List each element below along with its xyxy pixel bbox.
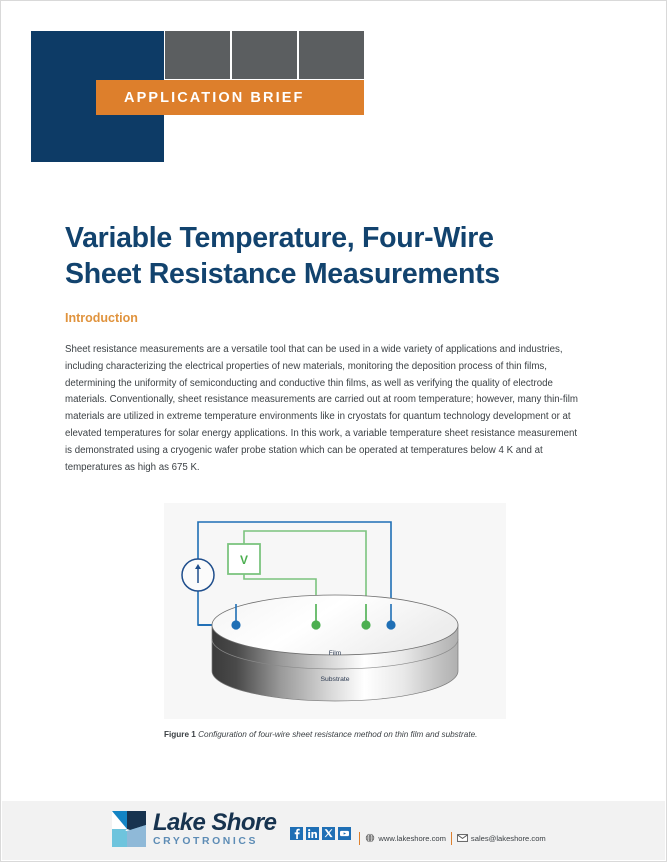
page-title-line1: Variable Temperature, Four-Wire bbox=[65, 222, 494, 254]
email-text: sales@lakeshore.com bbox=[471, 834, 546, 843]
introduction-paragraph: Sheet resistance measurements are a vers… bbox=[65, 342, 584, 477]
page-title-line2: Sheet Resistance Measurements bbox=[65, 258, 500, 290]
voltage-probe-right bbox=[361, 620, 370, 629]
x-twitter-icon[interactable] bbox=[322, 827, 335, 840]
figure-caption-text: Configuration of four-wire sheet resista… bbox=[198, 730, 477, 739]
envelope-icon bbox=[457, 834, 468, 842]
header-gray-block-3 bbox=[299, 31, 364, 79]
facebook-icon[interactable] bbox=[290, 827, 303, 840]
page-footer: Lake Shore CRYOTRONICS bbox=[2, 800, 665, 860]
substrate-label: Substrate bbox=[320, 676, 349, 683]
website-text: www.lakeshore.com bbox=[378, 834, 446, 843]
substrate-cylinder bbox=[212, 595, 458, 701]
figure-caption-label: Figure 1 bbox=[164, 730, 196, 739]
logo-company-subtitle: CRYOTRONICS bbox=[153, 837, 276, 847]
youtube-icon[interactable] bbox=[338, 827, 351, 840]
contact-divider-1 bbox=[359, 832, 360, 845]
voltmeter-label: V bbox=[240, 553, 248, 567]
application-brief-banner: APPLICATION BRIEF bbox=[96, 80, 364, 115]
four-wire-diagram: Film Substrate V bbox=[164, 503, 506, 719]
film-top-surface bbox=[212, 595, 458, 655]
film-label: Film bbox=[329, 650, 342, 657]
voltmeter-symbol: V bbox=[228, 544, 260, 574]
globe-icon bbox=[365, 833, 375, 843]
header-gray-block-1 bbox=[165, 31, 230, 79]
current-probe-left bbox=[231, 620, 240, 629]
current-probe-right bbox=[386, 620, 395, 629]
linkedin-icon[interactable] bbox=[306, 827, 319, 840]
banner-label: APPLICATION BRIEF bbox=[124, 90, 304, 106]
contact-divider-2 bbox=[451, 832, 452, 845]
page-title: Variable Temperature, Four-Wire Sheet Re… bbox=[65, 221, 605, 293]
header-gray-block-2 bbox=[232, 31, 297, 79]
document-page: APPLICATION BRIEF Variable Temperature, … bbox=[0, 0, 667, 862]
contact-info: www.lakeshore.com sales@lakeshore.com bbox=[359, 832, 545, 845]
lake-shore-logo: Lake Shore CRYOTRONICS bbox=[112, 811, 276, 847]
logo-company-name: Lake Shore bbox=[153, 811, 276, 835]
lake-shore-logo-mark bbox=[112, 811, 146, 847]
section-heading-introduction: Introduction bbox=[65, 311, 138, 325]
voltage-probe-left bbox=[311, 620, 320, 629]
social-links: www.lakeshore.com sales@lakeshore.com bbox=[290, 823, 545, 845]
website-link[interactable]: www.lakeshore.com bbox=[365, 833, 446, 843]
email-link[interactable]: sales@lakeshore.com bbox=[457, 834, 546, 843]
figure-caption: Figure 1 Configuration of four-wire shee… bbox=[164, 730, 564, 739]
figure-panel: Film Substrate V bbox=[164, 503, 506, 719]
current-source-symbol bbox=[182, 559, 214, 591]
